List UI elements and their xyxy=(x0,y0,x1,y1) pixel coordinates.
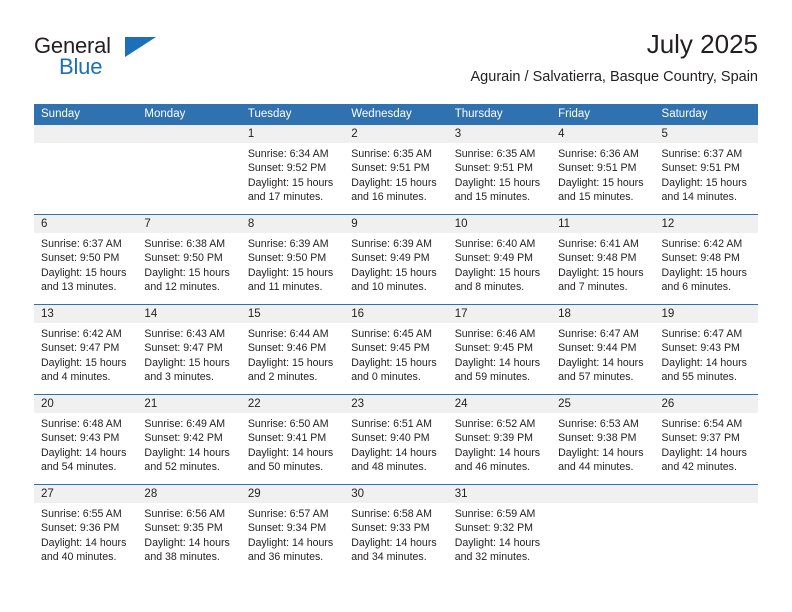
day-number: 30 xyxy=(344,485,447,503)
day-cell[interactable]: 13Sunrise: 6:42 AMSunset: 9:47 PMDayligh… xyxy=(34,305,137,394)
daylight-text-cont: and 4 minutes. xyxy=(41,370,130,384)
sunrise-text: Sunrise: 6:58 AM xyxy=(351,507,440,521)
day-cell[interactable]: 25Sunrise: 6:53 AMSunset: 9:38 PMDayligh… xyxy=(551,395,654,484)
sunrise-text: Sunrise: 6:52 AM xyxy=(455,417,544,431)
sunrise-text: Sunrise: 6:40 AM xyxy=(455,237,544,251)
sunset-text: Sunset: 9:41 PM xyxy=(248,431,337,445)
day-number: 29 xyxy=(241,485,344,503)
daylight-text: Daylight: 14 hours xyxy=(248,536,337,550)
sunset-text: Sunset: 9:52 PM xyxy=(248,161,337,175)
week-cells: 13Sunrise: 6:42 AMSunset: 9:47 PMDayligh… xyxy=(34,305,758,394)
sunset-text: Sunset: 9:51 PM xyxy=(558,161,647,175)
page-header: General Blue July 2025 Agurain / Salvati… xyxy=(34,28,758,96)
day-cell[interactable]: 11Sunrise: 6:41 AMSunset: 9:48 PMDayligh… xyxy=(551,215,654,304)
daylight-text: Daylight: 14 hours xyxy=(455,536,544,550)
daylight-text: Daylight: 15 hours xyxy=(41,266,130,280)
daylight-text: Daylight: 14 hours xyxy=(662,356,751,370)
day-details: Sunrise: 6:46 AMSunset: 9:45 PMDaylight:… xyxy=(448,323,551,385)
day-cell[interactable]: 22Sunrise: 6:50 AMSunset: 9:41 PMDayligh… xyxy=(241,395,344,484)
day-number: 8 xyxy=(241,215,344,233)
day-cell[interactable]: 27Sunrise: 6:55 AMSunset: 9:36 PMDayligh… xyxy=(34,485,137,574)
daylight-text-cont: and 6 minutes. xyxy=(662,280,751,294)
sunrise-text: Sunrise: 6:44 AM xyxy=(248,327,337,341)
sunset-text: Sunset: 9:40 PM xyxy=(351,431,440,445)
sunset-text: Sunset: 9:32 PM xyxy=(455,521,544,535)
day-number xyxy=(655,485,758,503)
daylight-text-cont: and 50 minutes. xyxy=(248,460,337,474)
sunrise-text: Sunrise: 6:42 AM xyxy=(662,237,751,251)
day-cell[interactable]: 21Sunrise: 6:49 AMSunset: 9:42 PMDayligh… xyxy=(137,395,240,484)
day-number: 16 xyxy=(344,305,447,323)
day-details: Sunrise: 6:35 AMSunset: 9:51 PMDaylight:… xyxy=(344,143,447,205)
day-cell[interactable]: 5Sunrise: 6:37 AMSunset: 9:51 PMDaylight… xyxy=(655,125,758,214)
day-details xyxy=(137,143,240,147)
day-details: Sunrise: 6:44 AMSunset: 9:46 PMDaylight:… xyxy=(241,323,344,385)
sunset-text: Sunset: 9:37 PM xyxy=(662,431,751,445)
day-details xyxy=(34,143,137,147)
day-number: 31 xyxy=(448,485,551,503)
weekday-header-monday: Monday xyxy=(137,104,240,125)
day-details: Sunrise: 6:42 AMSunset: 9:48 PMDaylight:… xyxy=(655,233,758,295)
day-details: Sunrise: 6:36 AMSunset: 9:51 PMDaylight:… xyxy=(551,143,654,205)
day-cell-empty xyxy=(551,485,654,574)
sunset-text: Sunset: 9:35 PM xyxy=(144,521,233,535)
sunrise-text: Sunrise: 6:39 AM xyxy=(351,237,440,251)
daylight-text: Daylight: 14 hours xyxy=(662,446,751,460)
daylight-text: Daylight: 14 hours xyxy=(41,446,130,460)
day-number: 12 xyxy=(655,215,758,233)
page-title: July 2025 xyxy=(471,28,758,60)
week-cells: 1Sunrise: 6:34 AMSunset: 9:52 PMDaylight… xyxy=(34,125,758,214)
daylight-text-cont: and 13 minutes. xyxy=(41,280,130,294)
day-number: 5 xyxy=(655,125,758,143)
day-number: 14 xyxy=(137,305,240,323)
daylight-text-cont: and 42 minutes. xyxy=(662,460,751,474)
day-details: Sunrise: 6:40 AMSunset: 9:49 PMDaylight:… xyxy=(448,233,551,295)
sunrise-text: Sunrise: 6:50 AM xyxy=(248,417,337,431)
daylight-text-cont: and 14 minutes. xyxy=(662,190,751,204)
logo-text-blue: Blue xyxy=(59,54,102,80)
calendar-grid: SundayMondayTuesdayWednesdayThursdayFrid… xyxy=(34,104,758,574)
sunrise-text: Sunrise: 6:35 AM xyxy=(455,147,544,161)
day-cell[interactable]: 23Sunrise: 6:51 AMSunset: 9:40 PMDayligh… xyxy=(344,395,447,484)
sunrise-text: Sunrise: 6:46 AM xyxy=(455,327,544,341)
day-details: Sunrise: 6:58 AMSunset: 9:33 PMDaylight:… xyxy=(344,503,447,565)
sunset-text: Sunset: 9:46 PM xyxy=(248,341,337,355)
day-cell[interactable]: 10Sunrise: 6:40 AMSunset: 9:49 PMDayligh… xyxy=(448,215,551,304)
sunrise-text: Sunrise: 6:37 AM xyxy=(41,237,130,251)
day-details: Sunrise: 6:54 AMSunset: 9:37 PMDaylight:… xyxy=(655,413,758,475)
day-cell[interactable]: 9Sunrise: 6:39 AMSunset: 9:49 PMDaylight… xyxy=(344,215,447,304)
daylight-text: Daylight: 15 hours xyxy=(455,266,544,280)
day-cell[interactable]: 12Sunrise: 6:42 AMSunset: 9:48 PMDayligh… xyxy=(655,215,758,304)
sunset-text: Sunset: 9:50 PM xyxy=(41,251,130,265)
sunrise-text: Sunrise: 6:41 AM xyxy=(558,237,647,251)
day-number: 21 xyxy=(137,395,240,413)
day-details: Sunrise: 6:49 AMSunset: 9:42 PMDaylight:… xyxy=(137,413,240,475)
sunrise-text: Sunrise: 6:36 AM xyxy=(558,147,647,161)
daylight-text: Daylight: 14 hours xyxy=(248,446,337,460)
daylight-text-cont: and 54 minutes. xyxy=(41,460,130,474)
day-cell[interactable]: 17Sunrise: 6:46 AMSunset: 9:45 PMDayligh… xyxy=(448,305,551,394)
day-number: 15 xyxy=(241,305,344,323)
daylight-text: Daylight: 15 hours xyxy=(248,176,337,190)
daylight-text: Daylight: 15 hours xyxy=(144,266,233,280)
day-cell[interactable]: 30Sunrise: 6:58 AMSunset: 9:33 PMDayligh… xyxy=(344,485,447,574)
day-number: 11 xyxy=(551,215,654,233)
day-cell-empty xyxy=(34,125,137,214)
day-details: Sunrise: 6:38 AMSunset: 9:50 PMDaylight:… xyxy=(137,233,240,295)
day-cell[interactable]: 2Sunrise: 6:35 AMSunset: 9:51 PMDaylight… xyxy=(344,125,447,214)
day-details: Sunrise: 6:47 AMSunset: 9:43 PMDaylight:… xyxy=(655,323,758,385)
daylight-text-cont: and 59 minutes. xyxy=(455,370,544,384)
daylight-text-cont: and 8 minutes. xyxy=(455,280,544,294)
day-details: Sunrise: 6:51 AMSunset: 9:40 PMDaylight:… xyxy=(344,413,447,475)
daylight-text: Daylight: 15 hours xyxy=(248,266,337,280)
weekday-header-tuesday: Tuesday xyxy=(241,104,344,125)
calendar-week-row: 20Sunrise: 6:48 AMSunset: 9:43 PMDayligh… xyxy=(34,394,758,484)
sunrise-text: Sunrise: 6:37 AM xyxy=(662,147,751,161)
day-details: Sunrise: 6:34 AMSunset: 9:52 PMDaylight:… xyxy=(241,143,344,205)
weekday-header-sunday: Sunday xyxy=(34,104,137,125)
day-number: 26 xyxy=(655,395,758,413)
daylight-text-cont: and 36 minutes. xyxy=(248,550,337,564)
daylight-text-cont: and 55 minutes. xyxy=(662,370,751,384)
day-cell[interactable]: 26Sunrise: 6:54 AMSunset: 9:37 PMDayligh… xyxy=(655,395,758,484)
daylight-text-cont: and 48 minutes. xyxy=(351,460,440,474)
sunset-text: Sunset: 9:38 PM xyxy=(558,431,647,445)
sunset-text: Sunset: 9:39 PM xyxy=(455,431,544,445)
sunrise-text: Sunrise: 6:48 AM xyxy=(41,417,130,431)
day-number: 10 xyxy=(448,215,551,233)
sunset-text: Sunset: 9:42 PM xyxy=(144,431,233,445)
daylight-text: Daylight: 15 hours xyxy=(248,356,337,370)
day-details: Sunrise: 6:53 AMSunset: 9:38 PMDaylight:… xyxy=(551,413,654,475)
sunset-text: Sunset: 9:48 PM xyxy=(662,251,751,265)
day-cell[interactable]: 6Sunrise: 6:37 AMSunset: 9:50 PMDaylight… xyxy=(34,215,137,304)
day-details: Sunrise: 6:59 AMSunset: 9:32 PMDaylight:… xyxy=(448,503,551,565)
day-cell-empty xyxy=(137,125,240,214)
daylight-text-cont: and 40 minutes. xyxy=(41,550,130,564)
daylight-text: Daylight: 14 hours xyxy=(144,536,233,550)
sunset-text: Sunset: 9:50 PM xyxy=(248,251,337,265)
day-cell[interactable]: 16Sunrise: 6:45 AMSunset: 9:45 PMDayligh… xyxy=(344,305,447,394)
day-number: 23 xyxy=(344,395,447,413)
day-number: 1 xyxy=(241,125,344,143)
day-number: 25 xyxy=(551,395,654,413)
sunset-text: Sunset: 9:43 PM xyxy=(41,431,130,445)
calendar-week-row: 27Sunrise: 6:55 AMSunset: 9:36 PMDayligh… xyxy=(34,484,758,574)
daylight-text: Daylight: 15 hours xyxy=(144,356,233,370)
day-cell[interactable]: 24Sunrise: 6:52 AMSunset: 9:39 PMDayligh… xyxy=(448,395,551,484)
logo-triangle-icon xyxy=(125,37,156,57)
day-cell[interactable]: 4Sunrise: 6:36 AMSunset: 9:51 PMDaylight… xyxy=(551,125,654,214)
calendar-week-row: 6Sunrise: 6:37 AMSunset: 9:50 PMDaylight… xyxy=(34,214,758,304)
day-number: 22 xyxy=(241,395,344,413)
calendar-week-row: 1Sunrise: 6:34 AMSunset: 9:52 PMDaylight… xyxy=(34,125,758,214)
sunset-text: Sunset: 9:49 PM xyxy=(455,251,544,265)
sunrise-text: Sunrise: 6:39 AM xyxy=(248,237,337,251)
day-details xyxy=(551,503,654,507)
daylight-text-cont: and 15 minutes. xyxy=(558,190,647,204)
day-number: 19 xyxy=(655,305,758,323)
sunrise-text: Sunrise: 6:55 AM xyxy=(41,507,130,521)
daylight-text: Daylight: 15 hours xyxy=(455,176,544,190)
daylight-text-cont: and 11 minutes. xyxy=(248,280,337,294)
week-cells: 20Sunrise: 6:48 AMSunset: 9:43 PMDayligh… xyxy=(34,395,758,484)
daylight-text-cont: and 7 minutes. xyxy=(558,280,647,294)
day-details: Sunrise: 6:50 AMSunset: 9:41 PMDaylight:… xyxy=(241,413,344,475)
daylight-text-cont: and 38 minutes. xyxy=(144,550,233,564)
day-details: Sunrise: 6:52 AMSunset: 9:39 PMDaylight:… xyxy=(448,413,551,475)
daylight-text: Daylight: 14 hours xyxy=(455,446,544,460)
title-block: July 2025 Agurain / Salvatierra, Basque … xyxy=(471,28,758,88)
daylight-text-cont: and 44 minutes. xyxy=(558,460,647,474)
day-cell[interactable]: 18Sunrise: 6:47 AMSunset: 9:44 PMDayligh… xyxy=(551,305,654,394)
sunset-text: Sunset: 9:48 PM xyxy=(558,251,647,265)
day-cell-empty xyxy=(655,485,758,574)
sunset-text: Sunset: 9:45 PM xyxy=(455,341,544,355)
sunrise-text: Sunrise: 6:47 AM xyxy=(558,327,647,341)
day-number: 28 xyxy=(137,485,240,503)
sunrise-text: Sunrise: 6:45 AM xyxy=(351,327,440,341)
daylight-text: Daylight: 14 hours xyxy=(455,356,544,370)
daylight-text: Daylight: 15 hours xyxy=(351,266,440,280)
day-number xyxy=(551,485,654,503)
daylight-text-cont: and 52 minutes. xyxy=(144,460,233,474)
daylight-text: Daylight: 15 hours xyxy=(351,356,440,370)
day-cell[interactable]: 3Sunrise: 6:35 AMSunset: 9:51 PMDaylight… xyxy=(448,125,551,214)
weekday-header-row: SundayMondayTuesdayWednesdayThursdayFrid… xyxy=(34,104,758,125)
daylight-text: Daylight: 14 hours xyxy=(351,446,440,460)
daylight-text: Daylight: 15 hours xyxy=(662,266,751,280)
sunset-text: Sunset: 9:45 PM xyxy=(351,341,440,355)
day-details: Sunrise: 6:43 AMSunset: 9:47 PMDaylight:… xyxy=(137,323,240,385)
daylight-text: Daylight: 14 hours xyxy=(351,536,440,550)
day-number: 2 xyxy=(344,125,447,143)
daylight-text-cont: and 2 minutes. xyxy=(248,370,337,384)
day-details: Sunrise: 6:37 AMSunset: 9:51 PMDaylight:… xyxy=(655,143,758,205)
daylight-text-cont: and 10 minutes. xyxy=(351,280,440,294)
sunset-text: Sunset: 9:47 PM xyxy=(144,341,233,355)
day-details: Sunrise: 6:48 AMSunset: 9:43 PMDaylight:… xyxy=(34,413,137,475)
week-cells: 6Sunrise: 6:37 AMSunset: 9:50 PMDaylight… xyxy=(34,215,758,304)
daylight-text: Daylight: 14 hours xyxy=(558,446,647,460)
daylight-text-cont: and 46 minutes. xyxy=(455,460,544,474)
calendar-week-row: 13Sunrise: 6:42 AMSunset: 9:47 PMDayligh… xyxy=(34,304,758,394)
day-number: 17 xyxy=(448,305,551,323)
daylight-text: Daylight: 14 hours xyxy=(558,356,647,370)
sunrise-text: Sunrise: 6:49 AM xyxy=(144,417,233,431)
sunset-text: Sunset: 9:51 PM xyxy=(662,161,751,175)
daylight-text: Daylight: 14 hours xyxy=(41,536,130,550)
day-number: 4 xyxy=(551,125,654,143)
daylight-text-cont: and 3 minutes. xyxy=(144,370,233,384)
sunset-text: Sunset: 9:43 PM xyxy=(662,341,751,355)
day-details: Sunrise: 6:56 AMSunset: 9:35 PMDaylight:… xyxy=(137,503,240,565)
sunrise-text: Sunrise: 6:35 AM xyxy=(351,147,440,161)
day-cell[interactable]: 31Sunrise: 6:59 AMSunset: 9:32 PMDayligh… xyxy=(448,485,551,574)
daylight-text: Daylight: 15 hours xyxy=(558,266,647,280)
day-details: Sunrise: 6:35 AMSunset: 9:51 PMDaylight:… xyxy=(448,143,551,205)
sunrise-text: Sunrise: 6:38 AM xyxy=(144,237,233,251)
day-details: Sunrise: 6:57 AMSunset: 9:34 PMDaylight:… xyxy=(241,503,344,565)
day-details: Sunrise: 6:39 AMSunset: 9:49 PMDaylight:… xyxy=(344,233,447,295)
day-number: 3 xyxy=(448,125,551,143)
sunset-text: Sunset: 9:34 PM xyxy=(248,521,337,535)
day-number: 13 xyxy=(34,305,137,323)
sunset-text: Sunset: 9:47 PM xyxy=(41,341,130,355)
day-number: 6 xyxy=(34,215,137,233)
daylight-text: Daylight: 15 hours xyxy=(662,176,751,190)
day-number xyxy=(34,125,137,143)
day-number: 24 xyxy=(448,395,551,413)
sunrise-text: Sunrise: 6:53 AM xyxy=(558,417,647,431)
sunrise-text: Sunrise: 6:59 AM xyxy=(455,507,544,521)
day-details: Sunrise: 6:37 AMSunset: 9:50 PMDaylight:… xyxy=(34,233,137,295)
daylight-text: Daylight: 14 hours xyxy=(144,446,233,460)
day-details: Sunrise: 6:47 AMSunset: 9:44 PMDaylight:… xyxy=(551,323,654,385)
sunrise-text: Sunrise: 6:34 AM xyxy=(248,147,337,161)
sunset-text: Sunset: 9:51 PM xyxy=(455,161,544,175)
daylight-text: Daylight: 15 hours xyxy=(558,176,647,190)
day-details: Sunrise: 6:39 AMSunset: 9:50 PMDaylight:… xyxy=(241,233,344,295)
location-subtitle: Agurain / Salvatierra, Basque Country, S… xyxy=(471,66,758,88)
sunset-text: Sunset: 9:49 PM xyxy=(351,251,440,265)
sunrise-text: Sunrise: 6:42 AM xyxy=(41,327,130,341)
sunrise-text: Sunrise: 6:51 AM xyxy=(351,417,440,431)
sunset-text: Sunset: 9:50 PM xyxy=(144,251,233,265)
daylight-text-cont: and 16 minutes. xyxy=(351,190,440,204)
daylight-text-cont: and 34 minutes. xyxy=(351,550,440,564)
calendar-weeks: 1Sunrise: 6:34 AMSunset: 9:52 PMDaylight… xyxy=(34,125,758,574)
sunrise-text: Sunrise: 6:43 AM xyxy=(144,327,233,341)
daylight-text-cont: and 15 minutes. xyxy=(455,190,544,204)
weekday-header-saturday: Saturday xyxy=(655,104,758,125)
daylight-text: Daylight: 15 hours xyxy=(351,176,440,190)
day-number: 18 xyxy=(551,305,654,323)
sunset-text: Sunset: 9:44 PM xyxy=(558,341,647,355)
week-cells: 27Sunrise: 6:55 AMSunset: 9:36 PMDayligh… xyxy=(34,485,758,574)
day-number: 9 xyxy=(344,215,447,233)
day-number xyxy=(137,125,240,143)
daylight-text: Daylight: 15 hours xyxy=(41,356,130,370)
day-number: 7 xyxy=(137,215,240,233)
sunrise-text: Sunrise: 6:47 AM xyxy=(662,327,751,341)
daylight-text-cont: and 12 minutes. xyxy=(144,280,233,294)
day-cell[interactable]: 7Sunrise: 6:38 AMSunset: 9:50 PMDaylight… xyxy=(137,215,240,304)
daylight-text-cont: and 57 minutes. xyxy=(558,370,647,384)
sunset-text: Sunset: 9:51 PM xyxy=(351,161,440,175)
day-number: 27 xyxy=(34,485,137,503)
day-cell[interactable]: 8Sunrise: 6:39 AMSunset: 9:50 PMDaylight… xyxy=(241,215,344,304)
day-details: Sunrise: 6:41 AMSunset: 9:48 PMDaylight:… xyxy=(551,233,654,295)
weekday-header-friday: Friday xyxy=(551,104,654,125)
day-cell[interactable]: 15Sunrise: 6:44 AMSunset: 9:46 PMDayligh… xyxy=(241,305,344,394)
daylight-text-cont: and 0 minutes. xyxy=(351,370,440,384)
calendar-page: General Blue July 2025 Agurain / Salvati… xyxy=(0,0,792,612)
daylight-text-cont: and 17 minutes. xyxy=(248,190,337,204)
day-cell[interactable]: 29Sunrise: 6:57 AMSunset: 9:34 PMDayligh… xyxy=(241,485,344,574)
sunset-text: Sunset: 9:36 PM xyxy=(41,521,130,535)
day-number: 20 xyxy=(34,395,137,413)
day-cell[interactable]: 20Sunrise: 6:48 AMSunset: 9:43 PMDayligh… xyxy=(34,395,137,484)
day-cell[interactable]: 19Sunrise: 6:47 AMSunset: 9:43 PMDayligh… xyxy=(655,305,758,394)
weekday-header-wednesday: Wednesday xyxy=(344,104,447,125)
day-cell[interactable]: 1Sunrise: 6:34 AMSunset: 9:52 PMDaylight… xyxy=(241,125,344,214)
weekday-header-thursday: Thursday xyxy=(448,104,551,125)
day-details: Sunrise: 6:42 AMSunset: 9:47 PMDaylight:… xyxy=(34,323,137,385)
sunrise-text: Sunrise: 6:56 AM xyxy=(144,507,233,521)
general-blue-logo: General Blue xyxy=(34,33,164,85)
sunrise-text: Sunrise: 6:54 AM xyxy=(662,417,751,431)
daylight-text-cont: and 32 minutes. xyxy=(455,550,544,564)
day-details: Sunrise: 6:55 AMSunset: 9:36 PMDaylight:… xyxy=(34,503,137,565)
sunset-text: Sunset: 9:33 PM xyxy=(351,521,440,535)
day-details xyxy=(655,503,758,507)
sunrise-text: Sunrise: 6:57 AM xyxy=(248,507,337,521)
day-details: Sunrise: 6:45 AMSunset: 9:45 PMDaylight:… xyxy=(344,323,447,385)
day-cell[interactable]: 28Sunrise: 6:56 AMSunset: 9:35 PMDayligh… xyxy=(137,485,240,574)
day-cell[interactable]: 14Sunrise: 6:43 AMSunset: 9:47 PMDayligh… xyxy=(137,305,240,394)
